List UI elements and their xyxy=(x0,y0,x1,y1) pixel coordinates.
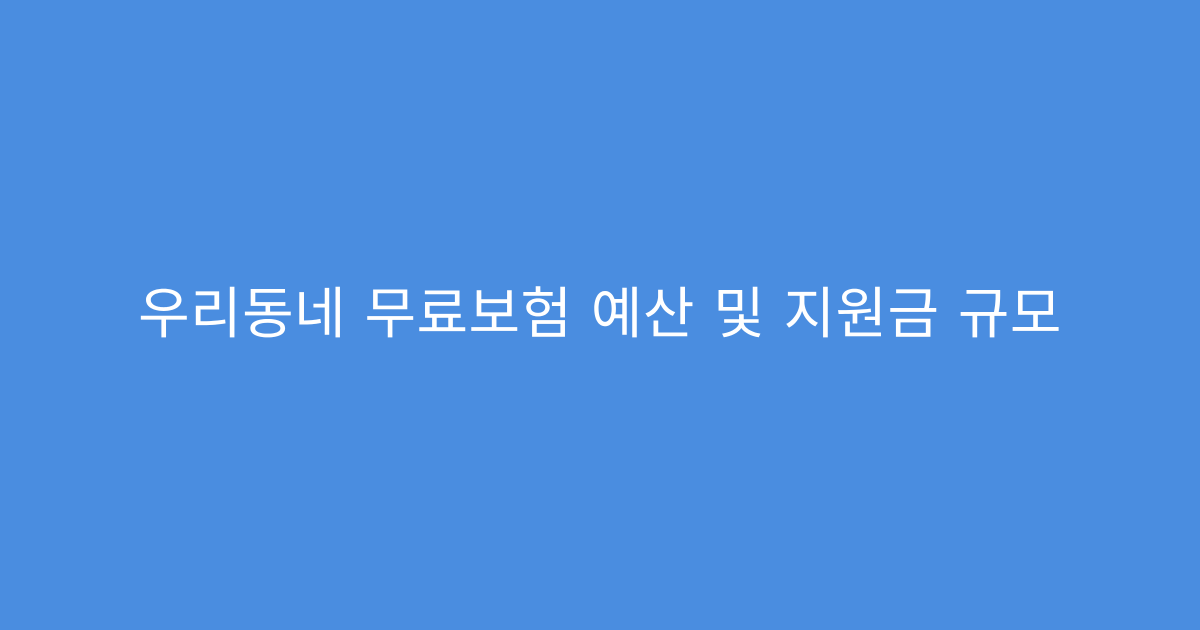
og-card-canvas: 우리동네 무료보험 예산 및 지원금 규모 xyxy=(0,0,1200,630)
og-card-content: 우리동네 무료보험 예산 및 지원금 규모 xyxy=(0,278,1200,352)
page-title: 우리동네 무료보험 예산 및 지원금 규모 xyxy=(60,278,1140,352)
